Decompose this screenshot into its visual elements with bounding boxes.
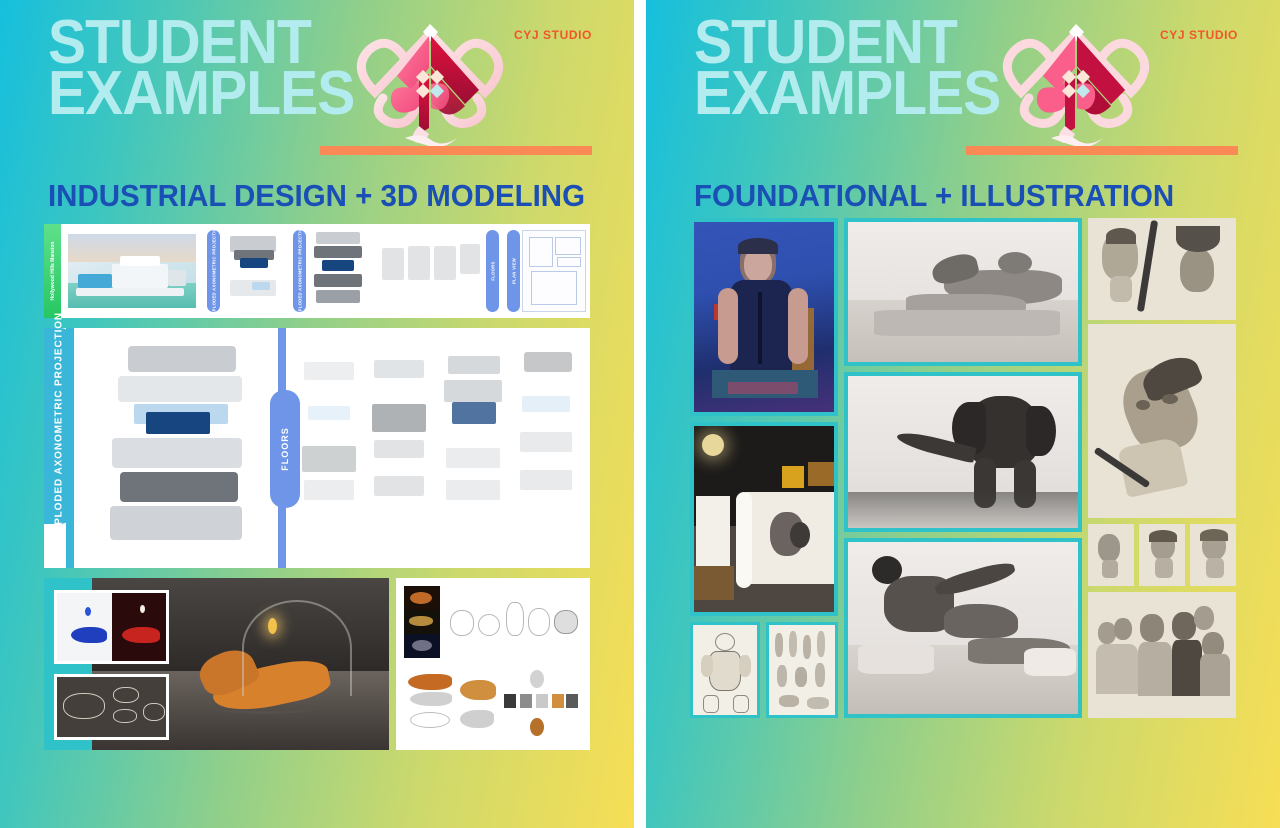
concept-thumbnail-pair <box>54 590 169 664</box>
strip-cell-label: EXPLODED AXONOMETRIC PROJECTION <box>211 224 216 317</box>
strip-cell-label: EXPLODED AXONOMETRIC PROJECTION <box>297 224 302 317</box>
form-exploration-greyscale <box>446 588 582 654</box>
strip-cell-label: PLAN VIEW <box>511 258 516 284</box>
graphite-portrait-tilted-head[interactable] <box>1088 324 1236 518</box>
gesture-drawing-sheet[interactable] <box>766 622 838 718</box>
large-exploded-axonometric <box>100 342 260 554</box>
section-subtitle-left: INDUSTRIAL DESIGN + 3D MODELING <box>48 178 585 214</box>
cyj-ribbon-heart-logo <box>345 18 515 153</box>
strip-cell-exploded: EXPLODED AXONOMETRIC PROJECTION <box>290 224 376 318</box>
oil-portrait-seated-figure-blue[interactable] <box>690 218 838 416</box>
strip-cell-label: Hollywood Hills Mansion <box>50 242 56 301</box>
strip-cell-floors: FLOORS <box>376 224 504 318</box>
slide-foundational-illustration: STUDENT EXAMPLES CYJ STUDIO <box>646 0 1280 828</box>
anglerfish-design-process-sheet <box>396 578 590 750</box>
studio-credit-left: CYJ STUDIO <box>514 28 592 42</box>
header-rule-right <box>966 146 1238 155</box>
head-study-profile[interactable] <box>1088 524 1134 586</box>
multi-figure-group-composition[interactable] <box>1088 592 1236 718</box>
chair-sketch-sheet <box>54 674 169 740</box>
graphite-head-studies-with-pencil[interactable] <box>1088 218 1236 320</box>
strip-cell-plan: PLAN VIEW <box>504 224 590 318</box>
artwork-grid <box>690 218 1236 728</box>
anglerfish-reference-photos <box>404 586 440 658</box>
mansion-label-tab: Hollywood Hills Mansion <box>44 224 61 318</box>
slide-header-right: STUDENT EXAMPLES CYJ STUDIO <box>646 0 1280 170</box>
lounge-chair-product-renders <box>44 578 389 750</box>
massing-model <box>224 232 286 310</box>
plan-label-tab: PLAN VIEW <box>507 230 520 312</box>
head-study-frontal[interactable] <box>1190 524 1236 586</box>
floors-tab-label: FLOORS <box>280 427 290 471</box>
charcoal-elephant-drawing[interactable] <box>844 372 1082 532</box>
floors-tab[interactable]: FLOORS <box>270 390 300 508</box>
studio-credit-right: CYJ STUDIO <box>1160 28 1238 42</box>
charcoal-reclining-male-figure[interactable] <box>844 538 1082 718</box>
strip-cell-label: FLOORS <box>490 261 495 280</box>
hillside-mansion-render <box>68 234 196 308</box>
exploded-axonometric-tab[interactable]: EXPLODED AXONOMETRIC PROJECTION <box>44 328 74 524</box>
presentation-spread: STUDENT EXAMPLES CYJ STUDIO <box>0 0 1280 828</box>
charcoal-reclining-nude-study[interactable] <box>844 218 1082 366</box>
title-line-2: EXAMPLES <box>694 69 1000 120</box>
page-title-left: STUDENT EXAMPLES <box>48 18 354 120</box>
four-ghosted-floor-stacks <box>300 346 578 546</box>
header-rule-left <box>320 146 592 155</box>
slide-industrial-design: STUDENT EXAMPLES CYJ STUDIO <box>0 0 634 828</box>
plan-drawing <box>522 230 586 312</box>
section-subtitle-right: FOUNDATIONAL + ILLUSTRATION <box>694 178 1174 214</box>
slide-header-left: STUDENT EXAMPLES CYJ STUDIO <box>0 0 634 170</box>
exploded-levels <box>308 230 372 312</box>
massing-label-tab: EXPLODED AXONOMETRIC PROJECTION <box>207 230 220 312</box>
page-title-right: STUDENT EXAMPLES <box>694 18 1000 120</box>
architecture-render-strip: Hollywood Hills Mansion EXPLODED AXONOME… <box>44 224 590 318</box>
strip-cell-mansion: Hollywood Hills Mansion <box>44 224 204 318</box>
head-study-three-quarter[interactable] <box>1139 524 1185 586</box>
color-variant-row <box>404 664 582 742</box>
strip-cell-massing: EXPLODED AXONOMETRIC PROJECTION <box>204 224 290 318</box>
exploded-label-tab: EXPLODED AXONOMETRIC PROJECTION <box>293 230 306 312</box>
floor-plates-ghosted <box>380 232 484 310</box>
cyj-ribbon-heart-logo <box>991 18 1161 153</box>
anatomy-torso-study[interactable] <box>690 622 760 718</box>
title-line-2: EXAMPLES <box>48 69 354 120</box>
exploded-axonometric-tab-label: EXPLODED AXONOMETRIC PROJECTION <box>54 312 65 540</box>
studio-photo-easel-charcoal-portrait[interactable] <box>690 422 838 616</box>
floors-label-tab: FLOORS <box>486 230 499 312</box>
exploded-axonometric-panel: EXPLODED AXONOMETRIC PROJECTION FLOORS <box>44 328 590 568</box>
